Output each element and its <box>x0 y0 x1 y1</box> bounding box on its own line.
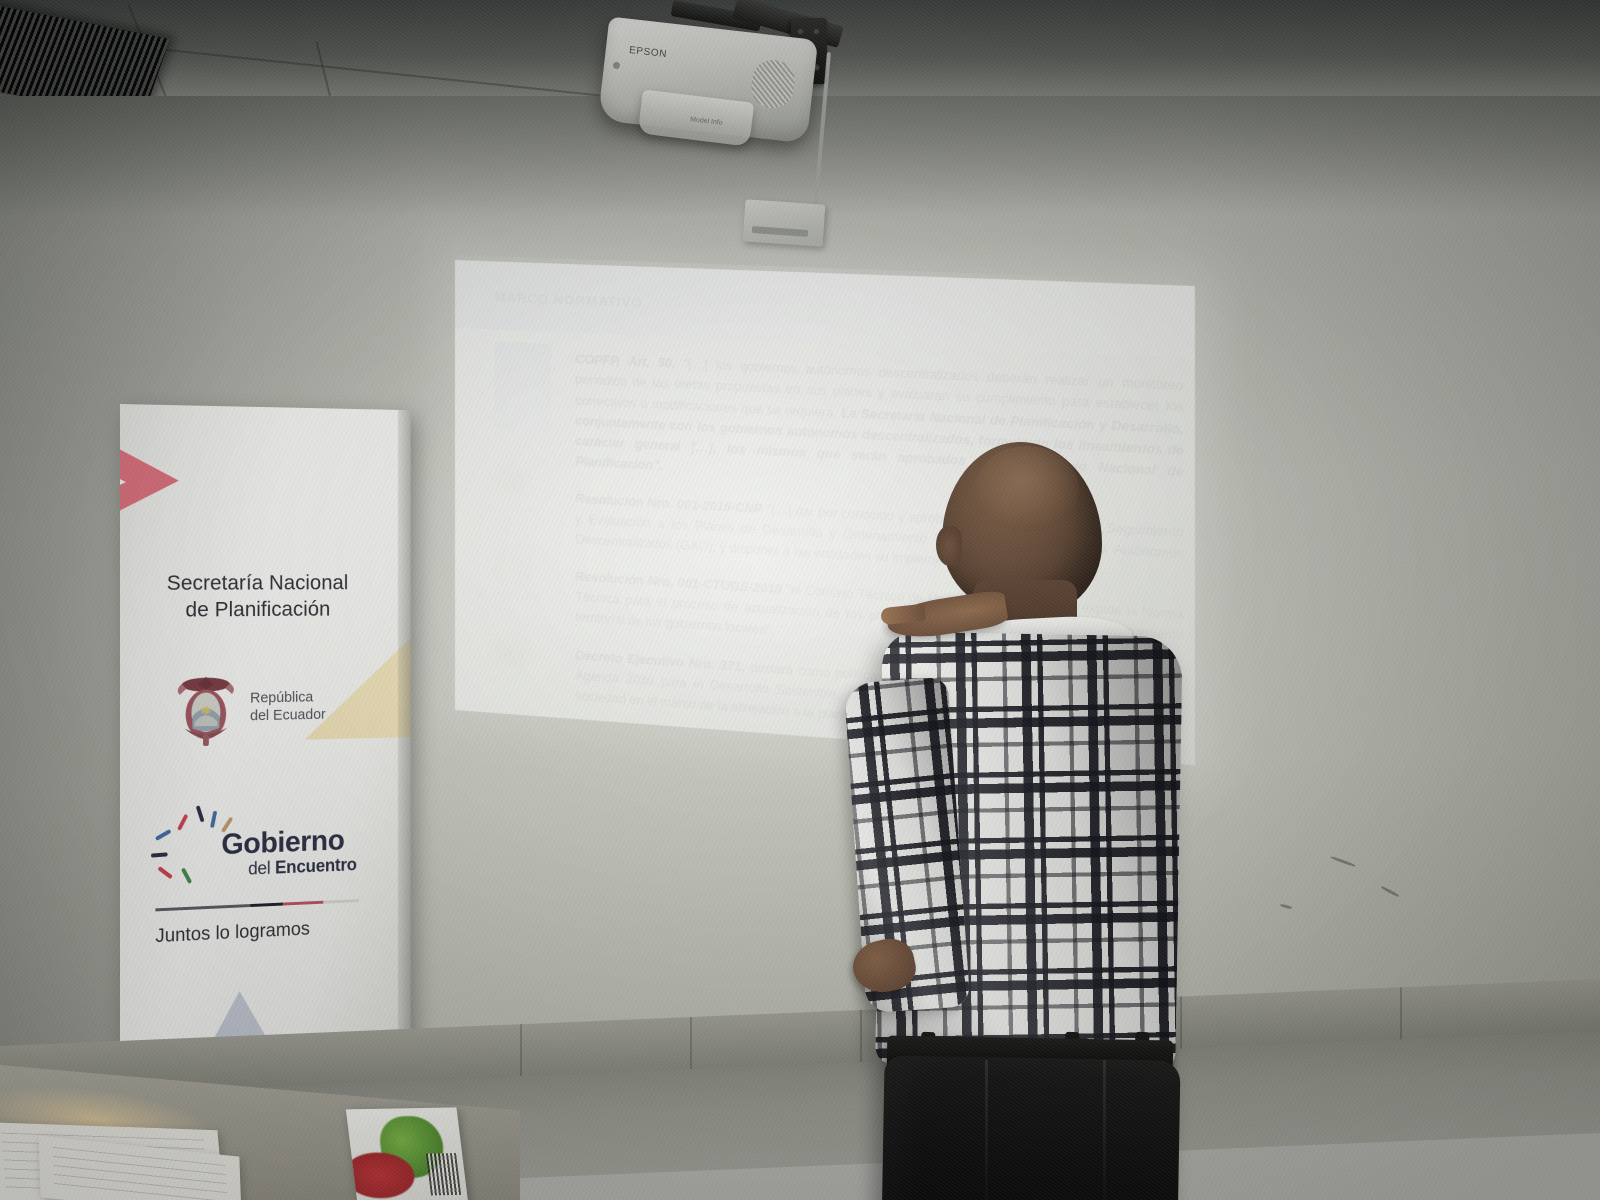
banner-title-line2: de Planificación <box>120 596 392 624</box>
trouser-crease <box>1103 1060 1106 1200</box>
presenter <box>835 430 1215 1200</box>
slide-mini-label: 001-CTUGS-2019 <box>477 591 539 602</box>
ear <box>936 526 962 566</box>
snack-package <box>346 1107 468 1200</box>
tick-mark-blue-icon <box>210 811 217 828</box>
document-thumbnail-icon <box>495 342 551 431</box>
tick-mark-navy-icon <box>196 805 205 822</box>
logo-sub-del: del <box>248 858 275 879</box>
gobierno-logo: Gobierno del Encuentro <box>155 796 374 896</box>
bald-spot <box>975 446 1079 532</box>
document-text-lines <box>53 1147 227 1200</box>
republic-text: República del Ecuador <box>250 689 326 726</box>
tick-mark-navy-icon <box>151 852 168 857</box>
photo-scene: EPSON Model Info MARCO NORMATIVO 001-201… <box>0 0 1600 1200</box>
slide-icon-column: 001-2016-CNP 001-CTUGS-2019 D.E. 371 <box>465 328 573 718</box>
chevron-inner-cut <box>120 449 126 514</box>
wall-junction-box <box>743 199 826 246</box>
republic-line2: del Ecuador <box>250 706 326 725</box>
trouser-crease <box>985 1060 988 1200</box>
trousers <box>881 1055 1180 1200</box>
barcode-icon <box>426 1153 461 1195</box>
logo-sub-bold: Encuentro <box>275 855 357 878</box>
banner-slogan: Juntos lo logramos <box>155 919 310 948</box>
banner-title-line1: Secretaría Nacional <box>120 570 392 597</box>
chevron-graphic-icon <box>120 417 179 542</box>
banner-right-edge <box>398 410 411 1075</box>
rollup-banner: Secretaría Nacional de Planificación Rep… <box>120 404 411 1094</box>
banner-divider <box>155 899 359 911</box>
slide-mini-label: D.E. 371 <box>487 676 517 685</box>
slide-mini-label: 001-2016-CNP <box>481 505 533 515</box>
republic-line1: República <box>250 689 326 708</box>
tick-mark-red-icon <box>177 814 188 831</box>
ecuador-coat-of-arms-icon <box>171 670 241 748</box>
tick-mark-green-icon <box>181 867 192 884</box>
executive-decree-seal-icon <box>487 628 533 677</box>
logo-sub-encuentro: del Encuentro <box>248 855 357 880</box>
tick-mark-blue-icon <box>155 829 171 841</box>
technical-council-icon <box>487 546 533 595</box>
wall-shadow-right <box>1180 96 1600 1106</box>
tick-mark-red-icon <box>157 866 172 879</box>
slide-paragraph-lead: COPFP, Art. 50. <box>575 353 675 372</box>
resolution-seal-icon <box>487 458 533 507</box>
banner-title: Secretaría Nacional de Planificación <box>120 570 392 624</box>
